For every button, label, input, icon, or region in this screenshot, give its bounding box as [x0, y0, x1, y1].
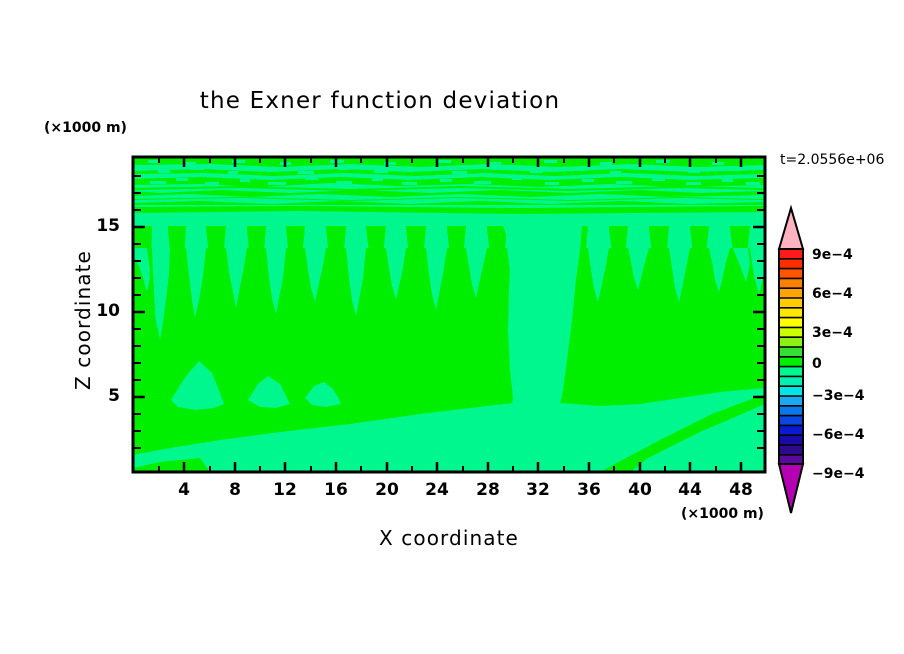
colorbar-tick-label: 3e−4	[812, 325, 853, 341]
x-tick-label: 40	[620, 480, 660, 500]
x-tick-label: 36	[569, 480, 609, 500]
x-tick-label: 8	[215, 480, 255, 500]
x-tick-label: 48	[721, 480, 761, 500]
y-tick-label: 5	[80, 386, 120, 406]
x-tick-label: 28	[468, 480, 508, 500]
colorbar-tick-label: 0	[812, 356, 822, 372]
colorbar-tick-label: 9e−4	[812, 247, 853, 263]
x-tick-label: 12	[265, 480, 305, 500]
contour-plot-figure: the Exner function deviation (×1000 m) t…	[0, 0, 904, 654]
x-tick-label: 32	[518, 480, 558, 500]
plot-canvas	[0, 0, 904, 654]
colorbar-under-arrow	[779, 464, 803, 513]
x-tick-label: 16	[316, 480, 356, 500]
colorbar-over-arrow	[779, 208, 803, 249]
colorbar-tick-label: 6e−4	[812, 286, 853, 302]
colorbar[interactable]	[779, 208, 803, 513]
x-tick-label: 44	[670, 480, 710, 500]
y-tick-label: 10	[80, 301, 120, 321]
x-tick-label: 4	[164, 480, 204, 500]
colorbar-band-separators	[779, 259, 803, 455]
x-tick-label: 20	[367, 480, 407, 500]
contour-field	[133, 157, 765, 472]
colorbar-tick-label: −3e−4	[812, 388, 864, 404]
colorbar-tick-label: −6e−4	[812, 427, 864, 443]
y-tick-label: 15	[80, 216, 120, 236]
x-tick-label: 24	[417, 480, 457, 500]
colorbar-tick-label: −9e−4	[812, 466, 864, 482]
